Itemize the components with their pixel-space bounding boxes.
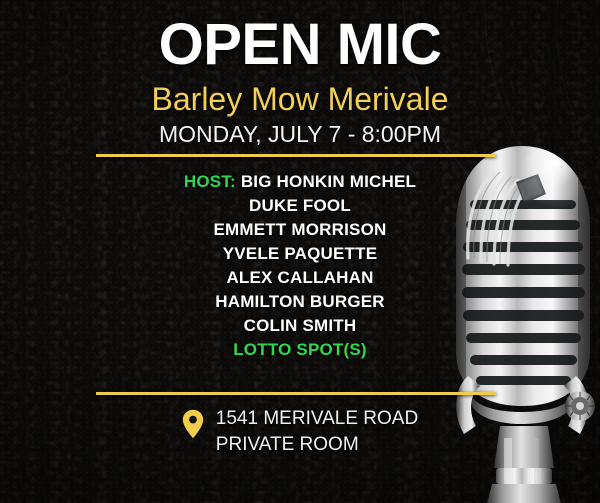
- list-item: HAMILTON BURGER: [0, 290, 600, 314]
- list-item: EMMETT MORRISON: [0, 218, 600, 242]
- list-item: ALEX CALLAHAN: [0, 266, 600, 290]
- list-item: YVELE PAQUETTE: [0, 242, 600, 266]
- list-item: COLIN SMITH: [0, 314, 600, 338]
- address-line-1: 1541 MERIVALE ROAD: [216, 406, 418, 432]
- performer-lineup: HOST: BIG HONKIN MICHEL DUKE FOOL EMMETT…: [0, 170, 600, 362]
- poster-content: OPEN MIC Barley Mow Merivale MONDAY, JUL…: [0, 0, 600, 503]
- lotto-spot-note: LOTTO SPOT(S): [0, 338, 600, 362]
- lineup-host-row: HOST: BIG HONKIN MICHEL: [0, 170, 600, 194]
- divider-top: [96, 154, 496, 157]
- list-item: DUKE FOOL: [0, 194, 600, 218]
- divider-bottom: [96, 392, 496, 395]
- page-title: OPEN MIC: [0, 16, 600, 74]
- open-mic-poster: OPEN MIC Barley Mow Merivale MONDAY, JUL…: [0, 0, 600, 503]
- location-pin-icon: [182, 409, 204, 444]
- venue-address: 1541 MERIVALE ROAD PRIVATE ROOM: [0, 406, 600, 458]
- address-line-2: PRIVATE ROOM: [216, 432, 418, 458]
- event-datetime: MONDAY, JULY 7 - 8:00PM: [0, 122, 600, 147]
- venue-name: Barley Mow Merivale: [0, 82, 600, 117]
- host-name: BIG HONKIN MICHEL: [241, 172, 416, 191]
- host-label: HOST:: [184, 172, 236, 191]
